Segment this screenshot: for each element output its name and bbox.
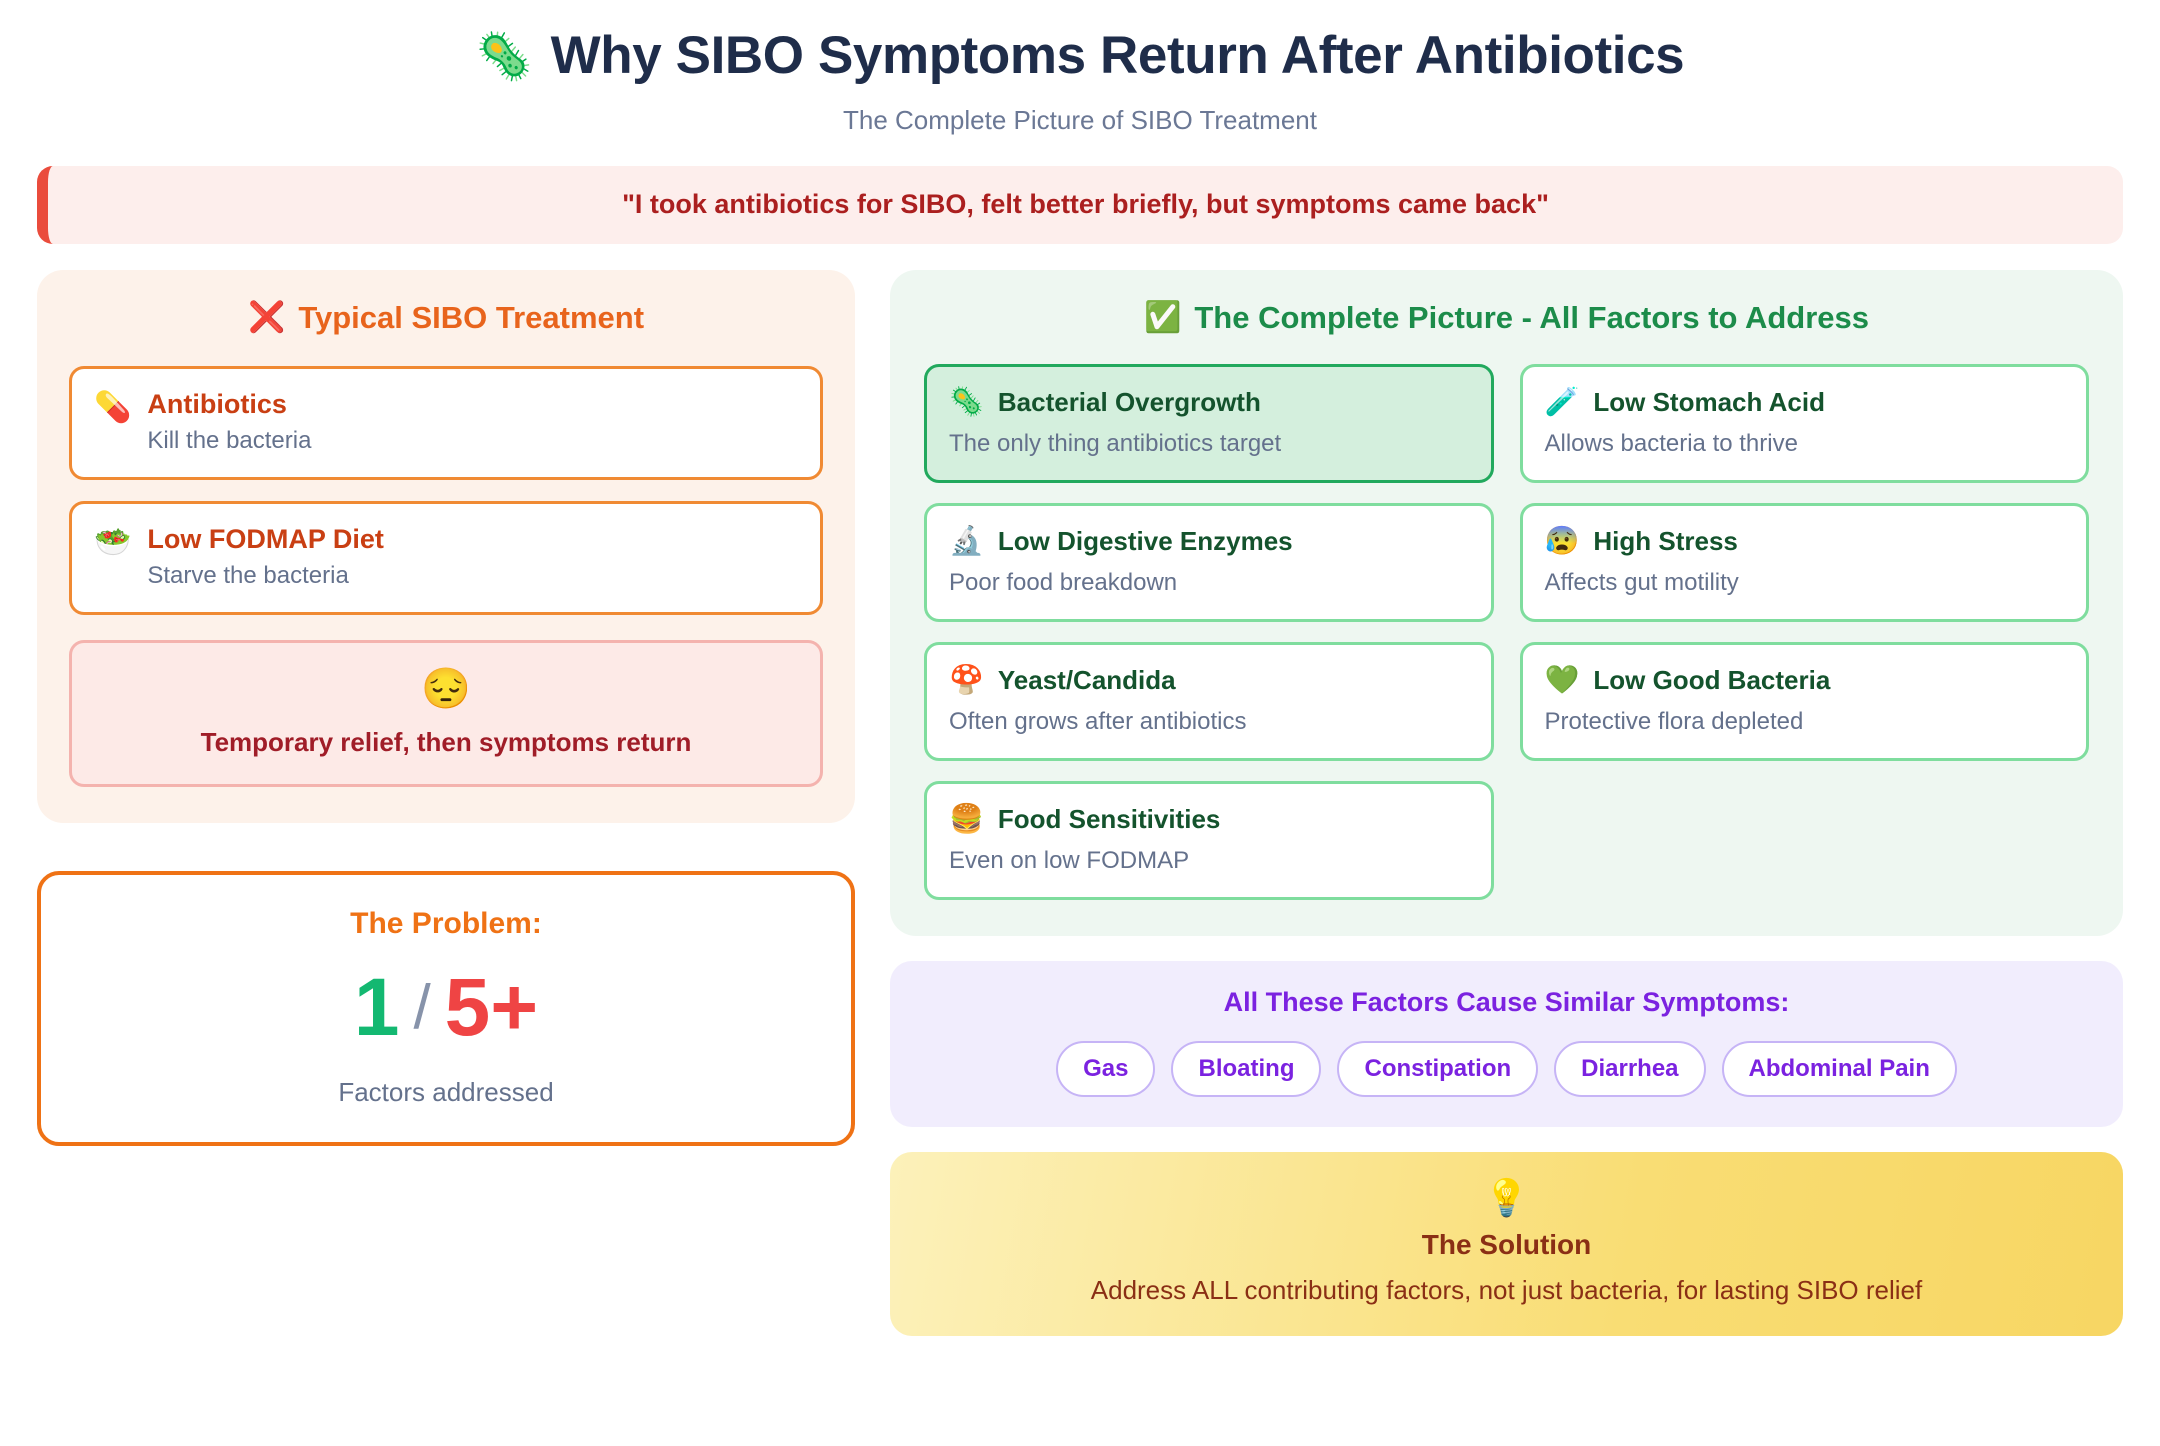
factor-title: Low Digestive Enzymes: [998, 526, 1293, 557]
symptoms-box: All These Factors Cause Similar Symptoms…: [890, 961, 2123, 1127]
treatment-desc: Kill the bacteria: [147, 427, 311, 455]
test-tube-icon: 🧪: [1545, 388, 1580, 416]
treatment-outcome-text: Temporary relief, then symptoms return: [92, 727, 800, 758]
complete-picture-panel: ✅ The Complete Picture - All Factors to …: [890, 270, 2123, 936]
left-column: ❌ Typical SIBO Treatment 💊 Antibiotics K…: [37, 270, 855, 1146]
solution-desc: Address ALL contributing factors, not ju…: [914, 1275, 2099, 1306]
factor-desc: Affects gut motility: [1545, 569, 2065, 597]
factor-card-yeast-candida: 🍄 Yeast/Candida Often grows after antibi…: [924, 642, 1494, 761]
factor-title: Low Stomach Acid: [1593, 387, 1825, 418]
treatment-desc: Starve the bacteria: [147, 562, 384, 590]
treatment-title: Low FODMAP Diet: [147, 524, 384, 555]
factor-card-food-sensitivities: 🍔 Food Sensitivities Even on low FODMAP: [924, 781, 1494, 900]
mushroom-icon: 🍄: [949, 666, 984, 694]
factor-desc: The only thing antibiotics target: [949, 430, 1469, 458]
factor-head: 🧪 Low Stomach Acid: [1545, 387, 2065, 418]
treatment-outcome-card: 😔 Temporary relief, then symptoms return: [69, 640, 823, 787]
light-bulb-icon: 💡: [914, 1176, 2099, 1219]
ratio-denominator: 5+: [445, 967, 539, 1049]
factor-desc: Poor food breakdown: [949, 569, 1469, 597]
typical-treatment-panel: ❌ Typical SIBO Treatment 💊 Antibiotics K…: [37, 270, 855, 823]
quote-text: "I took antibiotics for SIBO, felt bette…: [622, 189, 1549, 220]
typical-treatment-heading-text: Typical SIBO Treatment: [298, 300, 644, 336]
right-column: ✅ The Complete Picture - All Factors to …: [890, 270, 2123, 1336]
microbe-icon: 🦠: [476, 33, 533, 79]
problem-label: The Problem:: [61, 907, 831, 941]
problem-ratio: 1 / 5+: [61, 967, 831, 1049]
factor-title: Food Sensitivities: [998, 804, 1221, 835]
factor-head: 🦠 Bacterial Overgrowth: [949, 387, 1469, 418]
cross-mark-icon: ❌: [248, 300, 285, 335]
complete-picture-heading: ✅ The Complete Picture - All Factors to …: [924, 300, 2089, 336]
factor-card-high-stress: 😰 High Stress Affects gut motility: [1520, 503, 2090, 622]
treatment-card-low-fodmap: 🥗 Low FODMAP Diet Starve the bacteria: [69, 501, 823, 615]
factor-head: 😰 High Stress: [1545, 526, 2065, 557]
factor-title: Bacterial Overgrowth: [998, 387, 1261, 418]
factor-card-low-stomach-acid: 🧪 Low Stomach Acid Allows bacteria to th…: [1520, 364, 2090, 483]
ratio-numerator: 1: [354, 967, 400, 1049]
factor-head: 🔬 Low Digestive Enzymes: [949, 526, 1469, 557]
factor-desc: Even on low FODMAP: [949, 847, 1469, 875]
factor-card-low-digestive-enzymes: 🔬 Low Digestive Enzymes Poor food breakd…: [924, 503, 1494, 622]
factor-title: Low Good Bacteria: [1593, 665, 1830, 696]
problem-box: The Problem: 1 / 5+ Factors addressed: [37, 871, 855, 1146]
solution-title: The Solution: [914, 1229, 2099, 1261]
solution-box: 💡 The Solution Address ALL contributing …: [890, 1152, 2123, 1336]
factor-desc: Protective flora depleted: [1545, 708, 2065, 736]
typical-treatment-heading: ❌ Typical SIBO Treatment: [69, 300, 823, 336]
infographic-page: 🦠 Why SIBO Symptoms Return After Antibio…: [0, 0, 2160, 1446]
content-columns: ❌ Typical SIBO Treatment 💊 Antibiotics K…: [37, 270, 2123, 1336]
anxious-face-icon: 😰: [1545, 527, 1580, 555]
treatment-card-antibiotics: 💊 Antibiotics Kill the bacteria: [69, 366, 823, 480]
problem-caption: Factors addressed: [61, 1077, 831, 1108]
salad-icon: 🥗: [94, 526, 131, 559]
factor-desc: Often grows after antibiotics: [949, 708, 1469, 736]
check-mark-icon: ✅: [1144, 300, 1181, 335]
symptom-pill-gas: Gas: [1056, 1041, 1155, 1097]
quote-banner: "I took antibiotics for SIBO, felt bette…: [37, 166, 2123, 244]
green-heart-icon: 💚: [1545, 666, 1580, 694]
factor-desc: Allows bacteria to thrive: [1545, 430, 2065, 458]
symptom-pill-abdominal-pain: Abdominal Pain: [1722, 1041, 1957, 1097]
factor-head: 🍔 Food Sensitivities: [949, 804, 1469, 835]
symptom-pill-constipation: Constipation: [1337, 1041, 1538, 1097]
symptom-pill-diarrhea: Diarrhea: [1554, 1041, 1705, 1097]
page-title-text: Why SIBO Symptoms Return After Antibioti…: [551, 26, 1685, 87]
factor-grid: 🦠 Bacterial Overgrowth The only thing an…: [924, 364, 2089, 900]
microscope-icon: 🔬: [949, 527, 984, 555]
factor-title: High Stress: [1593, 526, 1738, 557]
factor-card-bacterial-overgrowth: 🦠 Bacterial Overgrowth The only thing an…: [924, 364, 1494, 483]
factor-head: 🍄 Yeast/Candida: [949, 665, 1469, 696]
complete-picture-heading-text: The Complete Picture - All Factors to Ad…: [1194, 300, 1869, 336]
hamburger-icon: 🍔: [949, 805, 984, 833]
page-title: 🦠 Why SIBO Symptoms Return After Antibio…: [0, 26, 2160, 87]
ratio-separator: /: [413, 977, 430, 1039]
symptom-pill-list: Gas Bloating Constipation Diarrhea Abdom…: [914, 1041, 2099, 1097]
treatment-title: Antibiotics: [147, 389, 311, 420]
pensive-face-icon: 😔: [92, 665, 800, 713]
factor-card-low-good-bacteria: 💚 Low Good Bacteria Protective flora dep…: [1520, 642, 2090, 761]
symptoms-title: All These Factors Cause Similar Symptoms…: [914, 987, 2099, 1018]
pill-icon: 💊: [94, 391, 131, 424]
symptom-pill-bloating: Bloating: [1171, 1041, 1321, 1097]
page-subtitle: The Complete Picture of SIBO Treatment: [0, 105, 2160, 136]
factor-title: Yeast/Candida: [998, 665, 1176, 696]
page-header: 🦠 Why SIBO Symptoms Return After Antibio…: [0, 0, 2160, 136]
factor-head: 💚 Low Good Bacteria: [1545, 665, 2065, 696]
microbe-icon: 🦠: [949, 388, 984, 416]
